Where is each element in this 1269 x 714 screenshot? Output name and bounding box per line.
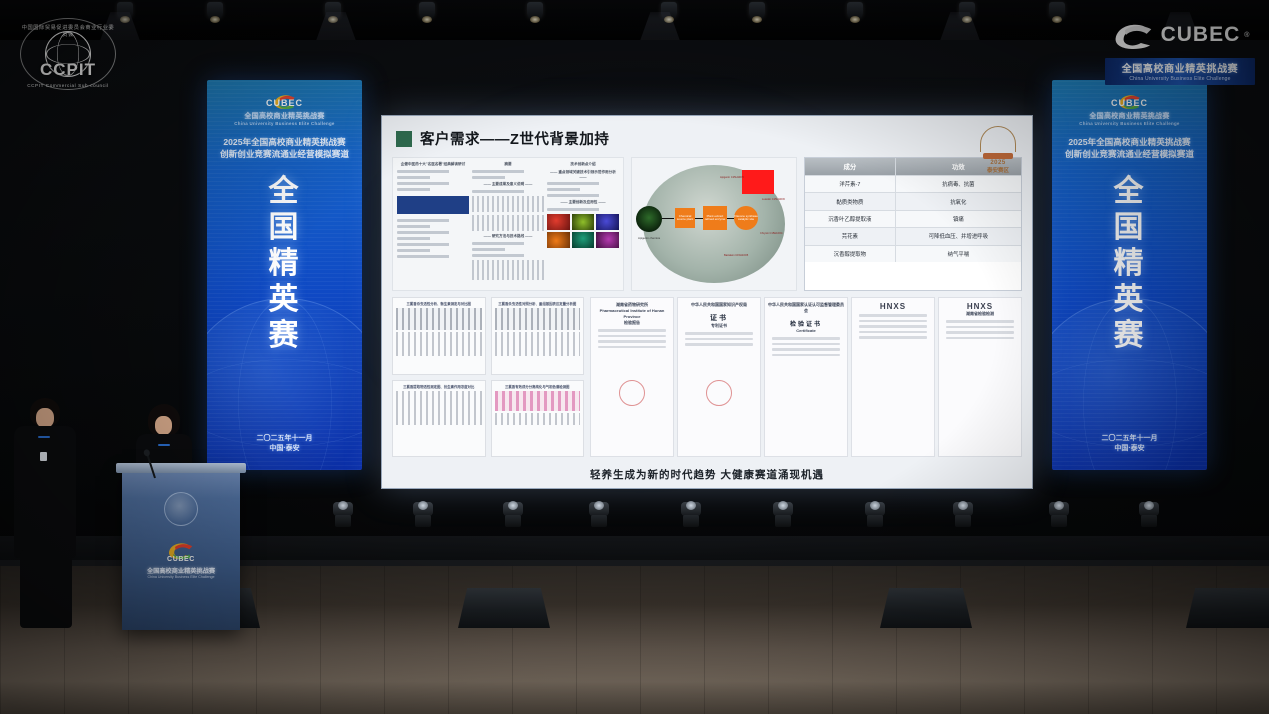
certificate-brand: HNXS [942, 302, 1018, 311]
banner-right-vchar: 英 [1052, 282, 1207, 318]
banner-left-vchar: 国 [207, 210, 362, 246]
truss-lamp [412, 0, 442, 30]
poster-col3-heading: 技术创新点介绍 [547, 162, 619, 167]
legs [20, 550, 72, 628]
person-standing-left [8, 398, 88, 628]
certificate-type: 检验报告 [594, 320, 670, 326]
poster-column-3: 技术创新点介绍 —— 重点领域关键技术引领示范作用分析 —— —— 主要创新及应… [547, 162, 619, 286]
podium-wordmark: CUBEC [122, 556, 240, 563]
moving-head-light [678, 500, 704, 528]
certificate-title-en: Certificate [768, 328, 844, 334]
ingredient-effect-table: 成分 功效 洋芹素-7 抗病毒、抗菌 黏质类物质 抗氧化 沉香叶乙醇提取液 镇痛 [804, 157, 1022, 291]
banner-globe-graphic [1052, 298, 1207, 470]
certificate-line [598, 329, 666, 332]
figure-card-title: 三氯香杀虫活性对照分析、重组基因表达定量分析图 [495, 301, 581, 306]
poster-text-line [547, 194, 619, 197]
poster-column-1: 企健中医药十大"名医名著"经典解读研讨 [397, 162, 469, 286]
certificate-line [859, 314, 927, 317]
red-highlight-square [742, 170, 774, 194]
certificate-line [946, 326, 1014, 329]
pathway-product-label: Apigenin C15H10O5 [720, 176, 744, 179]
mountain-arch-icon [980, 126, 1016, 152]
registered-mark: ® [1244, 32, 1249, 39]
banner-logo: CUBEC [207, 80, 362, 108]
slide-title: 客户需求——Z世代背景加持 [420, 128, 609, 149]
microscopy-image [547, 232, 570, 248]
banner-left-date: 二〇二五年十一月 中国·泰安 [207, 434, 362, 454]
table-cell-effect: 抗病毒、抗菌 [896, 176, 1021, 192]
poster-text-line [397, 188, 469, 191]
table-cell-effect: 镇痛 [896, 211, 1021, 227]
slide-footer-caption: 轻养生成为新的时代趋势 大健康赛道涌现机遇 [382, 467, 1032, 482]
biosynthesis-pathway-diagram: Apigenin chemica Chemical source plant P… [631, 157, 797, 291]
badge-base [983, 153, 1013, 159]
poster-text-line [397, 176, 469, 179]
podium-title: 全国高校商业精英挑战赛 China University Business El… [122, 566, 240, 579]
figure-card: 三氯香杀虫活性对照分析、重组基因表达定量分析图 [491, 297, 585, 375]
lanyard [158, 444, 170, 446]
banner-left-title-line1: 2025年全国高校商业精英挑战赛 [207, 136, 362, 148]
stage-monitor [880, 588, 972, 628]
moving-head-light [586, 500, 612, 528]
ccpit-english-arc: CCPIT Commercial Sub-council [20, 83, 116, 88]
figure-card: 三氯香有效成分分离纯化与气相色谱检测图 [491, 380, 585, 458]
poster-text-line [472, 248, 544, 251]
poster-text-line [397, 182, 469, 185]
poster-figure-blue [397, 196, 469, 214]
cubec-wordmark: CUBEC [1161, 23, 1241, 47]
poster-text-line [397, 170, 469, 173]
certificate-line [598, 346, 666, 349]
banner-left-sub-en: China University Business Elite Challeng… [207, 121, 362, 126]
certificate-line [946, 331, 1014, 334]
truss-lamp [1042, 0, 1072, 30]
certificate-line [859, 320, 927, 323]
pathway-node: Plant extract refined enzyme [703, 206, 727, 230]
certificate-document: HNXS [851, 297, 935, 457]
poster-column-2: 摘要 —— 主要成果及意义说明 —— —— 研究方法与技术路线 —— [472, 162, 544, 286]
moving-head-light [330, 500, 356, 528]
certificate-line [772, 354, 840, 357]
banner-right-date: 二〇二五年十一月 中国·泰安 [1052, 434, 1207, 454]
banner-right-sub-en: China University Business Elite Challeng… [1052, 121, 1207, 126]
bar-chart-figure [396, 391, 482, 425]
banner-right-title-line2: 创新创业竞赛流通业经营模拟赛道 [1052, 148, 1207, 160]
pathway-arrow [662, 218, 674, 219]
poster-gel-figure [472, 196, 544, 212]
banner-right-title: 2025年全国高校商业精英挑战赛 创新创业竞赛流通业经营模拟赛道 [1052, 136, 1207, 160]
certificate-document: 中华人民共和国国家认证认可监督管理委员会 检验证书 Certificate [764, 297, 848, 457]
moving-head-light [950, 500, 976, 528]
certificate-org: 中华人民共和国国家知识产权局 [681, 302, 757, 308]
podium-title-en: China University Business Elite Challeng… [122, 575, 240, 579]
banner-globe-graphic [207, 298, 362, 470]
poster-text-line [397, 237, 469, 240]
poster-col3-sub1: —— 重点领域关键技术引领示范作用分析 —— [547, 170, 619, 179]
globe-emblem-icon [164, 492, 198, 526]
certificate-line [946, 337, 1014, 340]
presentation-slide: 客户需求——Z世代背景加持 2025 泰安赛区 企健中医药十大"名医名著"经典解… [382, 116, 1032, 488]
ccpit-logo: 中国国际贸易促进委员会商业行业委员会 CCPIT CCPIT Commercia… [20, 18, 116, 90]
pathway-product-label: Luteolin C15H10O6 [762, 198, 785, 201]
moving-head-light [410, 500, 436, 528]
slide-bottom-row: 三氯香杀虫活性分析、衡生素测定与对比图 三氯香杀虫活性对照分析、重组基因表达定量… [392, 297, 1022, 457]
poster-text-line [472, 242, 544, 245]
poster-text-line [397, 225, 469, 228]
podium-title-cn: 全国高校商业精英挑战赛 [122, 566, 240, 575]
certificate-document: 湖南省药物研究所 Pharmaceutical Institute of Hun… [590, 297, 674, 457]
certificate-type: 专利证书 [681, 323, 757, 329]
certificate-org-en: Pharmaceutical Institute of Hunan Provin… [594, 308, 670, 320]
microscopy-image [572, 214, 595, 230]
table-cell-effect: 可降低血压、并增进呼吸 [896, 228, 1021, 244]
face [36, 408, 54, 428]
projection-screen: 客户需求——Z世代背景加持 2025 泰安赛区 企健中医药十大"名医名著"经典解… [382, 116, 1032, 488]
table-cell-component: 沉香叶乙醇提取液 [805, 211, 896, 227]
banner-right-vchar: 国 [1052, 210, 1207, 246]
pathway-arrow [695, 218, 703, 219]
certificate-line [772, 348, 840, 351]
stage-monitor [1186, 588, 1269, 628]
pathway-product-label: Chrysin C15H10O4 [760, 232, 783, 235]
moving-head-light [770, 500, 796, 528]
poster-text-line [472, 254, 544, 257]
poster-text-line [397, 249, 469, 252]
banner-left-logo-sub: 全国高校商业精英挑战赛 China University Business El… [207, 111, 362, 126]
id-badge [40, 452, 47, 461]
moving-head-light [1136, 500, 1162, 528]
poster-text-line [397, 243, 469, 246]
certificate-title: 证书 [681, 313, 757, 323]
face [155, 416, 172, 435]
microscopy-image [596, 214, 619, 230]
figure-card-title: 三氯香提取物活性测定图、抗生素作用浓度对比 [396, 384, 482, 389]
stage-monitor [458, 588, 550, 628]
poster-text-line [547, 188, 619, 191]
cubec-logo-corner: CUBEC ® 全国高校商业精英挑战赛 China University Bus… [1105, 18, 1255, 104]
table-row: 洋芹素-7 抗病毒、抗菌 [805, 175, 1021, 192]
table-cell-effect: 纳气平喘 [896, 246, 1021, 262]
event-badge: 2025 泰安赛区 [978, 126, 1018, 172]
cubec-title-bar: 全国高校商业精英挑战赛 China University Business El… [1105, 58, 1255, 85]
truss-lamp [840, 0, 870, 30]
truss-lamp [200, 0, 230, 30]
pathway-node: Chemical source plant [675, 208, 695, 228]
banner-left-location: 中国·泰安 [207, 444, 362, 454]
slide-header: 客户需求——Z世代背景加持 [392, 124, 1022, 151]
table-row: 沉香醇提取物 纳气平喘 [805, 245, 1021, 262]
poster-text-line [547, 208, 619, 211]
banner-left-vchar: 全 [207, 174, 362, 210]
pathway-product-label: Baicalein C15H10O5 [724, 254, 748, 257]
banner-left-title: 2025年全国高校商业精英挑战赛 创新创业竞赛流通业经营模拟赛道 [207, 136, 362, 160]
pathway-source-label: Apigenin chemica [634, 236, 664, 240]
podium-logo: CUBEC [122, 540, 240, 563]
banner-left-vchar: 精 [207, 246, 362, 282]
plant-photo-icon [636, 206, 662, 232]
microscopy-image [572, 232, 595, 248]
bar-chart-figure [495, 332, 581, 356]
certificate-line [685, 343, 753, 346]
pathway-arrow [727, 218, 734, 219]
poster-col2-sub1: —— 主要成果及意义说明 —— [472, 182, 544, 187]
certificate-document: 中华人民共和国国家知识产权局 证书 专利证书 [677, 297, 761, 457]
table-header-component: 成分 [805, 158, 896, 175]
stage-scene: CUBEC 全国高校商业精英挑战赛 China University Busin… [0, 0, 1269, 714]
certificate-line [598, 335, 666, 338]
podium: CUBEC 全国高校商业精英挑战赛 China University Busin… [122, 470, 240, 630]
microscopy-image [596, 232, 619, 248]
torso [14, 426, 76, 558]
certificate-brand-sub: 湖南省检验检测 [942, 311, 1018, 317]
certificate-line [859, 331, 927, 334]
banner-left-sub-cn: 全国高校商业精英挑战赛 [207, 111, 362, 121]
poster-text-line [397, 231, 469, 234]
lanyard [38, 436, 50, 438]
poster-gel-figure [472, 215, 544, 231]
poster-text-line [397, 219, 469, 222]
banner-right-vertical-text: 全 国 精 英 赛 [1052, 174, 1207, 354]
certificate-brand: HNXS [855, 302, 931, 311]
certificate-gallery: 湖南省药物研究所 Pharmaceutical Institute of Hun… [590, 297, 1022, 457]
cubec-swoosh-icon [272, 92, 298, 110]
pathway-node-enzyme: Flavone synthase catalytic site [734, 206, 758, 230]
moving-head-light [1046, 500, 1072, 528]
badge-label: 泰安赛区 [978, 166, 1018, 174]
certificate-line [685, 338, 753, 341]
banner-left-date-cn: 二〇二五年十一月 [207, 434, 362, 444]
table-row: 芫花素 可降低血压、并增进呼吸 [805, 227, 1021, 244]
figure-card-title: 三氯香有效成分分离纯化与气相色谱检测图 [495, 384, 581, 389]
poster-microscopy-grid [547, 214, 619, 248]
banner-left-title-line2: 创新创业竞赛流通业经营模拟赛道 [207, 148, 362, 160]
gel-electrophoresis-figure [495, 308, 581, 330]
banner-right: CUBEC 全国高校商业精英挑战赛 China University Busin… [1052, 80, 1207, 470]
chromatography-figure [495, 391, 581, 411]
moving-head-light [862, 500, 888, 528]
cubec-title-en: China University Business Elite Challeng… [1109, 76, 1251, 82]
research-poster: 企健中医药十大"名医名著"经典解读研讨 [392, 157, 624, 291]
microscopy-image [547, 214, 570, 230]
banner-right-vchar: 赛 [1052, 318, 1207, 354]
slide-top-row: 企健中医药十大"名医名著"经典解读研讨 [392, 157, 1022, 291]
banner-left-vertical-text: 全 国 精 英 赛 [207, 174, 362, 354]
certificate-line [859, 325, 927, 328]
table-cell-component: 黏质类物质 [805, 193, 896, 209]
table-row: 沉香叶乙醇提取液 镇痛 [805, 210, 1021, 227]
banner-left-vchar: 英 [207, 282, 362, 318]
banner-right-date-cn: 二〇二五年十一月 [1052, 434, 1207, 444]
certificate-line [859, 336, 927, 339]
table-row: 黏质类物质 抗氧化 [805, 192, 1021, 209]
table-cell-component: 芫花素 [805, 228, 896, 244]
data-figure-cards: 三氯香杀虫活性分析、衡生素测定与对比图 三氯香杀虫活性对照分析、重组基因表达定量… [392, 297, 584, 457]
red-seal-icon [706, 380, 732, 406]
figure-card-title: 三氯香杀虫活性分析、衡生素测定与对比图 [396, 301, 482, 306]
cubec-logo-row: CUBEC ® [1105, 18, 1255, 52]
certificate-org: 中华人民共和国国家认证认可监督管理委员会 [768, 302, 844, 314]
poster-chart-figure [472, 260, 544, 280]
certificate-line [946, 320, 1014, 323]
figure-card: 三氯香提取物活性测定图、抗生素作用浓度对比 [392, 380, 486, 458]
certificate-line [772, 337, 840, 340]
banner-right-logo-sub: 全国高校商业精英挑战赛 China University Business El… [1052, 111, 1207, 126]
banner-right-vchar: 全 [1052, 174, 1207, 210]
podium-top [116, 463, 246, 473]
certificate-document: HNXS 湖南省检验检测 [938, 297, 1022, 457]
certificate-title: 检验证书 [768, 319, 844, 328]
truss-lamp [520, 0, 550, 30]
table-cell-component: 洋芹素-7 [805, 176, 896, 192]
poster-text-line [472, 190, 544, 193]
poster-text-line [472, 176, 544, 179]
banner-right-title-line1: 2025年全国高校商业精英挑战赛 [1052, 136, 1207, 148]
poster-text-line [547, 182, 619, 185]
poster-col3-sub2: —— 主要创新及应用性 —— [547, 200, 619, 205]
poster-col2-heading: 摘要 [472, 162, 544, 167]
figure-card: 三氯香杀虫活性分析、衡生素测定与对比图 [392, 297, 486, 375]
certificate-line [685, 332, 753, 335]
ccpit-wordmark: CCPIT [20, 60, 116, 80]
table-cell-effect: 抗氧化 [896, 193, 1021, 209]
banner-right-location: 中国·泰安 [1052, 444, 1207, 454]
bar-chart-figure [495, 413, 581, 425]
bar-chart-figure [396, 332, 482, 356]
banner-left-wordmark: CUBEC [207, 98, 362, 108]
banner-right-vchar: 精 [1052, 246, 1207, 282]
certificate-line [772, 343, 840, 346]
poster-col1-heading: 企健中医药十大"名医名著"经典解读研讨 [397, 162, 469, 167]
red-seal-icon [619, 380, 645, 406]
cubec-swoosh-icon [1111, 18, 1157, 52]
poster-col2-sub2: —— 研究方法与技术路线 —— [472, 234, 544, 239]
banner-left-vchar: 赛 [207, 318, 362, 354]
banner-right-sub-cn: 全国高校商业精英挑战赛 [1052, 111, 1207, 121]
cubec-title-cn: 全国高校商业精英挑战赛 [1109, 60, 1251, 75]
banner-left: CUBEC 全国高校商业精英挑战赛 China University Busin… [207, 80, 362, 470]
poster-text-line [397, 255, 469, 258]
truss-lamp [742, 0, 772, 30]
moving-head-light [500, 500, 526, 528]
title-square-icon [396, 131, 412, 147]
certificate-line [598, 340, 666, 343]
table-cell-component: 沉香醇提取物 [805, 246, 896, 262]
poster-text-line [472, 170, 544, 173]
gel-electrophoresis-figure [396, 308, 482, 330]
